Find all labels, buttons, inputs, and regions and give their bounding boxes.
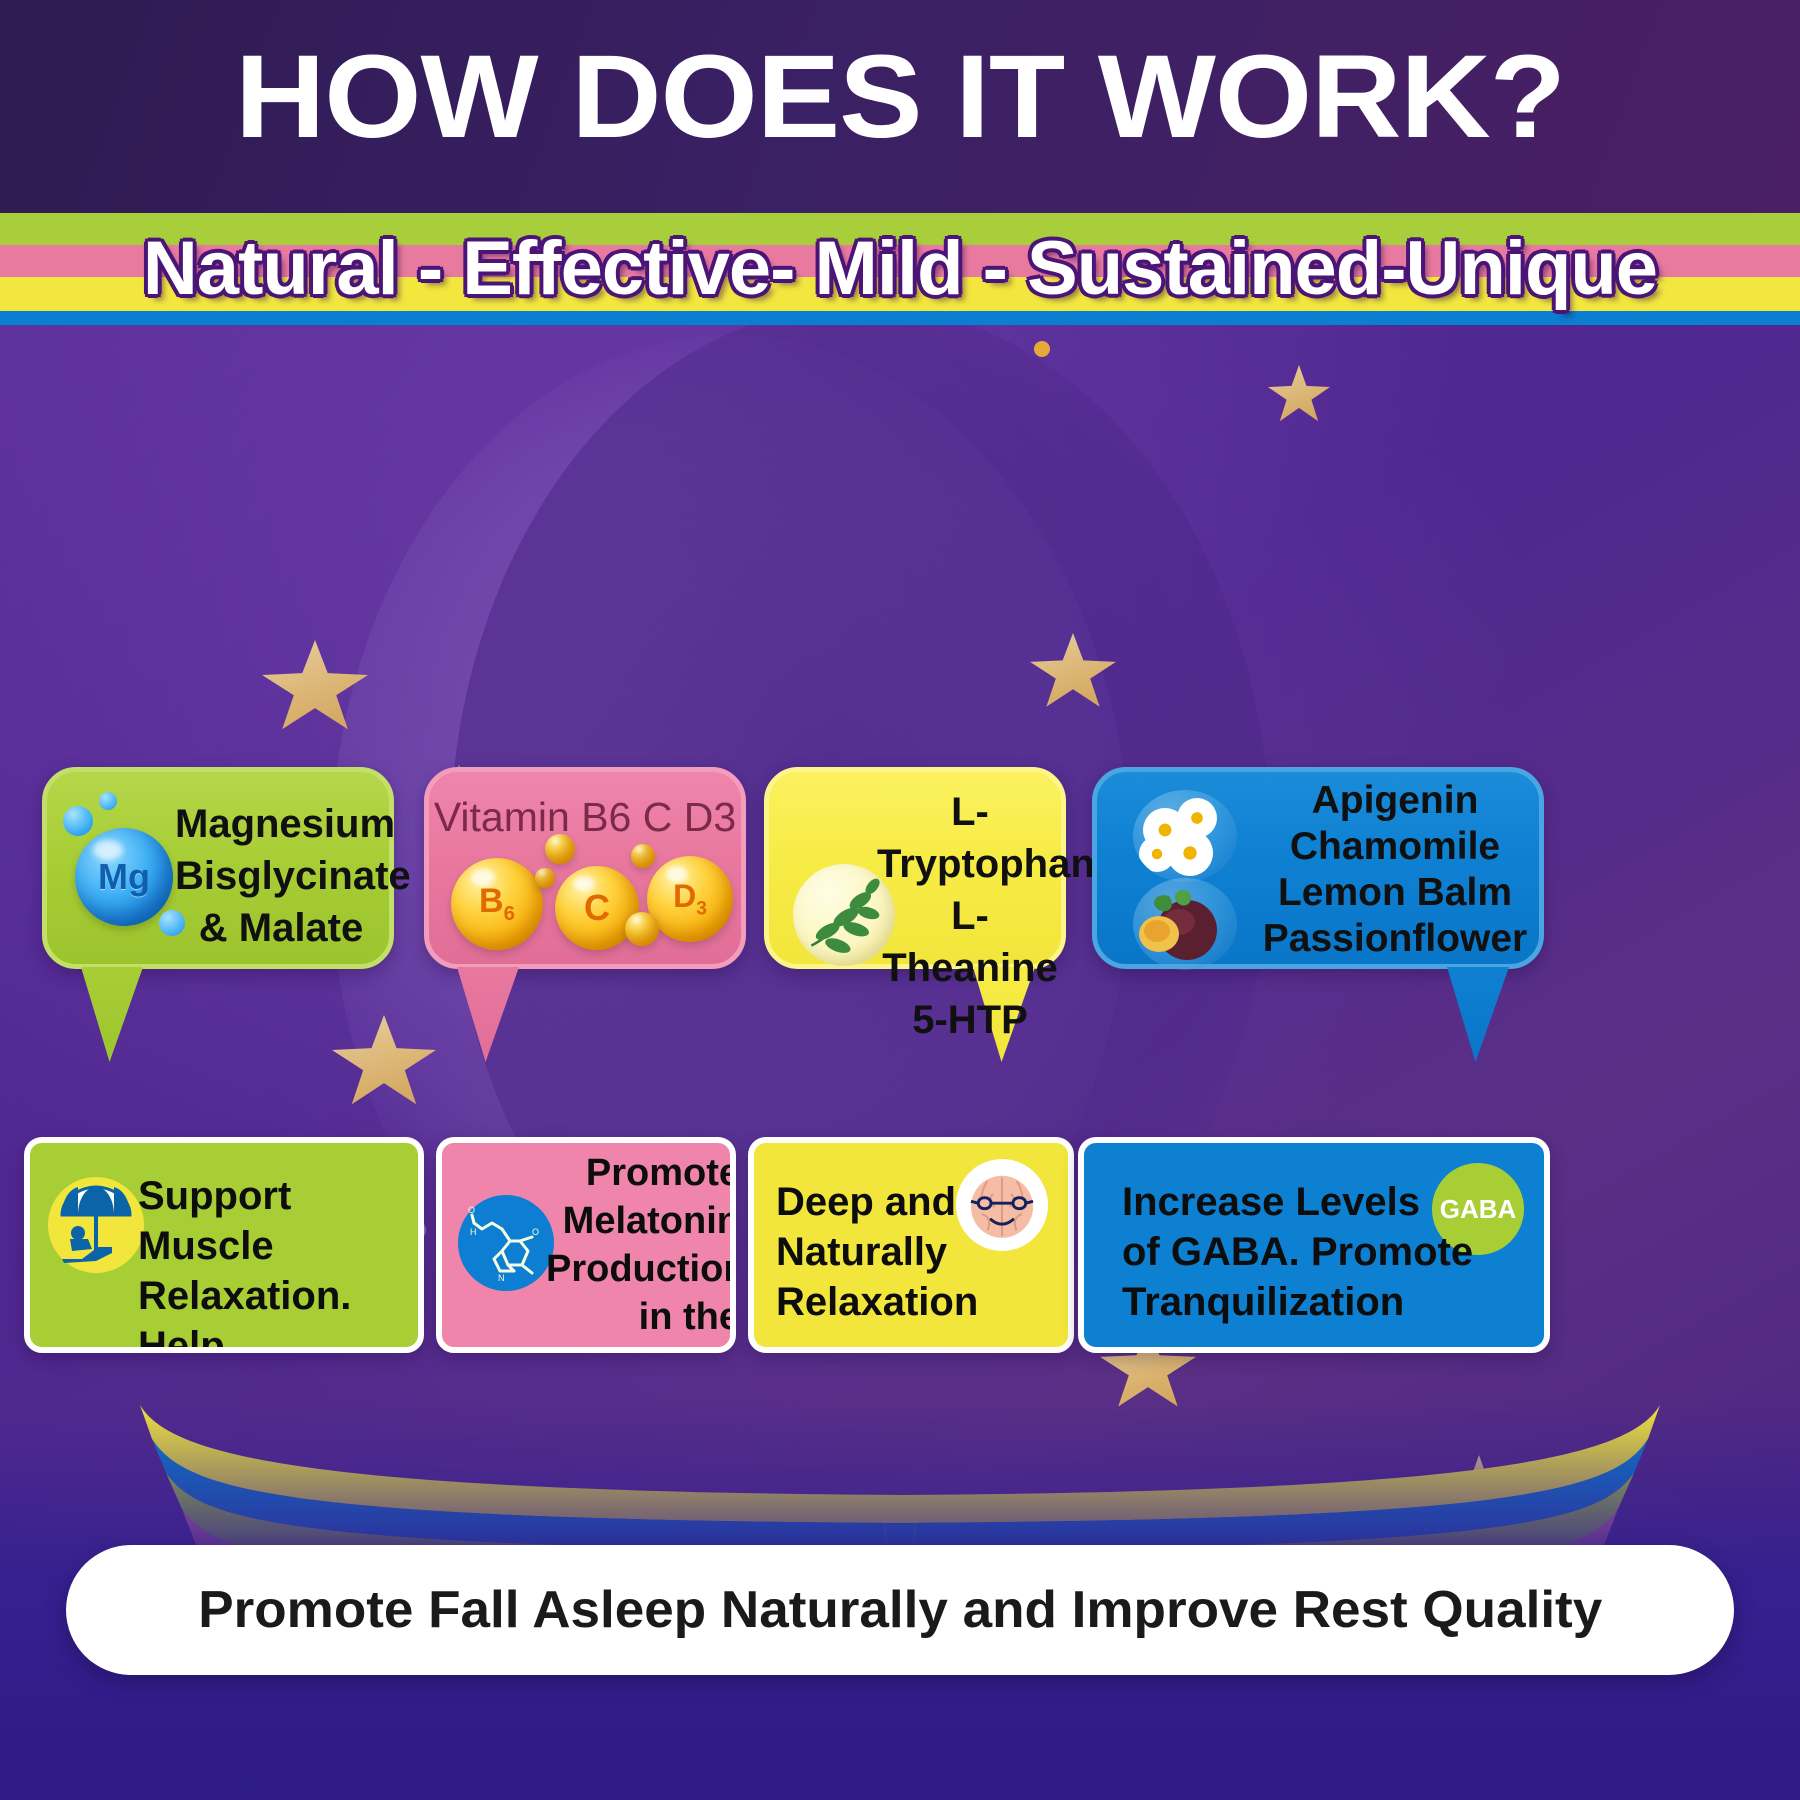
- ingredient-line: Apigenin: [1249, 778, 1541, 824]
- benefit-line: in the Brain: [546, 1293, 736, 1353]
- svg-text:N: N: [498, 1273, 505, 1283]
- mg-molecule-icon: Mg: [75, 828, 173, 926]
- ingredient-line: Chamomile: [1249, 824, 1541, 870]
- ingredient-line: Passionflower: [1249, 916, 1541, 962]
- vitamin-bubble-small-icon: [535, 868, 555, 888]
- benefit-line: Production: [546, 1245, 736, 1293]
- ingredient-line: Bisglycinate: [175, 850, 387, 902]
- vitamin-bubble-small-icon: [545, 834, 575, 864]
- benefit-card-deep-relaxation[interactable]: Deep and Naturally Relaxation: [748, 1137, 1074, 1353]
- ingredient-bubble-vitamins[interactable]: Vitamin B6 C D3 B6 C D3: [424, 767, 746, 969]
- ingredient-bubble-magnesium[interactable]: Mg Magnesium Bisglycinate & Malate: [42, 767, 394, 969]
- benefit-card-melatonin[interactable]: H O O N Promote Melatonin Production in …: [436, 1137, 736, 1353]
- svg-text:H: H: [470, 1227, 477, 1237]
- ingredient-line: & Malate: [175, 902, 387, 954]
- vitamin-capsule-b6-icon: B6: [451, 858, 543, 950]
- chamomile-flower-icon: [1133, 790, 1237, 882]
- tagline: Natural - Effective- Mild - Sustained-Un…: [0, 226, 1800, 312]
- ingredient-line: 5-HTP: [877, 994, 1063, 1046]
- benefit-line: Relaxation: [776, 1277, 1026, 1327]
- vitamin-bubble-small-icon: [631, 844, 655, 868]
- ingredient-bubble-aminoacids[interactable]: L-Tryptophan L-Theanine 5-HTP: [764, 767, 1066, 969]
- mg-bubble-small-icon: [99, 792, 117, 810]
- ingredient-line: L-Tryptophan: [877, 786, 1063, 890]
- benefit-line: Promote: [546, 1149, 736, 1197]
- vitamin-heading: Vitamin B6 C D3: [429, 794, 741, 841]
- bubble-tail: [1447, 967, 1509, 1062]
- benefit-line: Melatonin: [546, 1197, 736, 1245]
- passionflower-fruit-icon: [1133, 878, 1237, 970]
- benefit-card-gaba[interactable]: GABA Increase Levels of GABA. Promote Tr…: [1078, 1137, 1550, 1353]
- bubble-tail: [81, 967, 143, 1062]
- ingredient-line: Lemon Balm: [1249, 870, 1541, 916]
- beach-lounger-icon: [48, 1177, 144, 1273]
- ingredient-line: Magnesium: [175, 798, 387, 850]
- benefit-line: of GABA. Promote: [1122, 1227, 1522, 1277]
- benefit-line: Naturally: [776, 1227, 1026, 1277]
- svg-text:O: O: [468, 1205, 475, 1215]
- benefit-line: Increase Levels: [1122, 1177, 1522, 1227]
- footer-text: Promote Fall Asleep Naturally and Improv…: [198, 1580, 1602, 1640]
- header-banner: HOW DOES IT WORK?: [0, 0, 1800, 213]
- vitamin-capsule-d3-icon: D3: [647, 856, 733, 942]
- vitamin-bubble-small-icon: [625, 912, 659, 946]
- benefit-line: Tranquilization: [1122, 1277, 1522, 1327]
- benefit-line: Deep and: [776, 1177, 1026, 1227]
- benefit-card-muscle-relaxation[interactable]: Support Muscle Relaxation. Help Reduce F…: [24, 1137, 424, 1353]
- footer-banner[interactable]: Promote Fall Asleep Naturally and Improv…: [66, 1545, 1734, 1675]
- svg-text:O: O: [532, 1227, 539, 1237]
- page-title: HOW DOES IT WORK?: [0, 38, 1800, 156]
- benefit-line: Support Muscle: [138, 1171, 420, 1271]
- stripe-blue: [0, 311, 1800, 325]
- mg-bubble-small-icon: [63, 806, 93, 836]
- benefit-line: Relaxation. Help: [138, 1271, 420, 1353]
- dot-decoration: [1034, 341, 1050, 357]
- ingredient-bubble-herbs[interactable]: Apigenin Chamomile Lemon Balm Passionflo…: [1092, 767, 1544, 969]
- star-icon: [1268, 365, 1330, 423]
- melatonin-molecule-icon: H O O N: [458, 1195, 554, 1291]
- mg-icon-label: Mg: [98, 856, 150, 898]
- ingredient-line: L-Theanine: [877, 890, 1063, 994]
